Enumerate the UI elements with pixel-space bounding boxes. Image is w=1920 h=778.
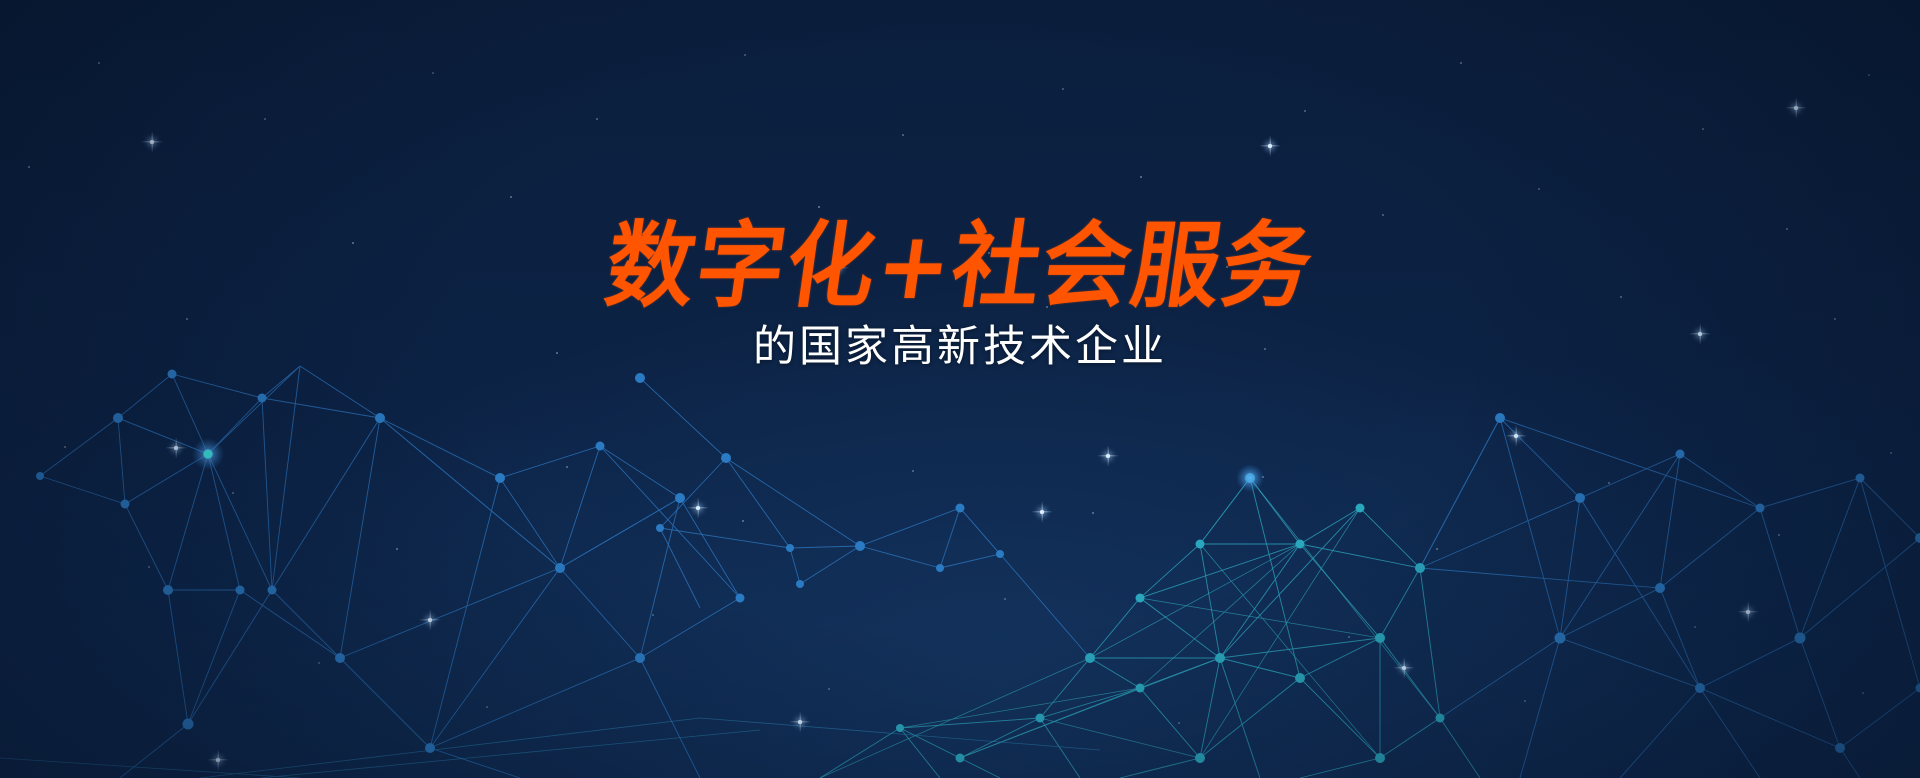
network-mesh bbox=[0, 358, 1920, 778]
page-subtitle: 的国家高新技术企业 bbox=[0, 324, 1920, 371]
page-title: 数字化+社会服务 bbox=[601, 219, 1320, 312]
hero-banner: 数字化+社会服务 的国家高新技术企业 bbox=[0, 0, 1920, 778]
hero-text-block: 数字化+社会服务 的国家高新技术企业 bbox=[0, 222, 1920, 371]
